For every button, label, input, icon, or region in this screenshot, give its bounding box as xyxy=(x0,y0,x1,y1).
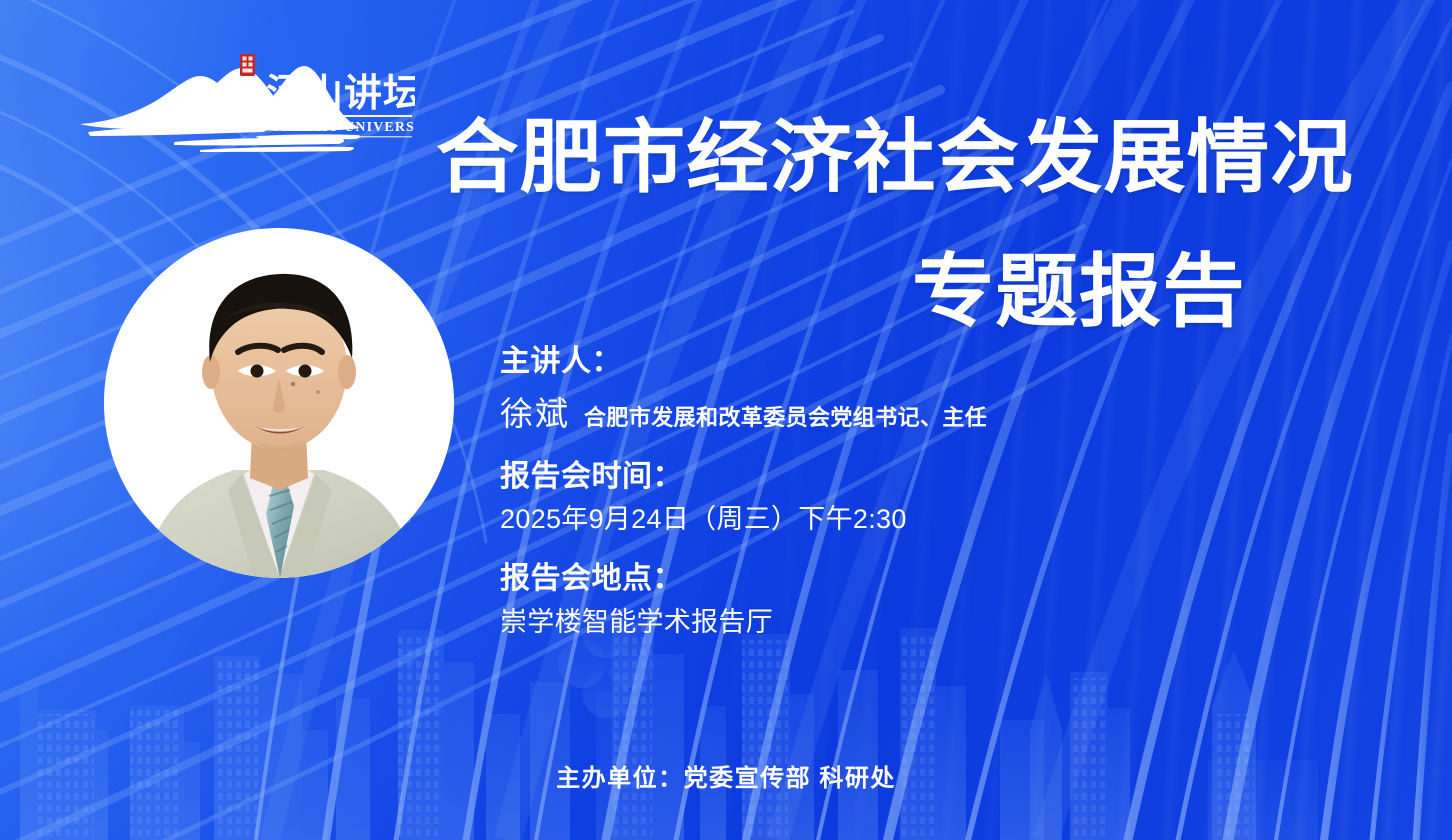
time-label: 报告会时间： xyxy=(500,459,1200,496)
poster-canvas: 汤山讲坛 CHAOHU UNIVERSITY xyxy=(0,0,1452,840)
venue-block: 报告会地点： 崇学楼智能学术报告厅 xyxy=(500,561,1200,639)
venue-value: 崇学楼智能学术报告厅 xyxy=(500,606,1200,640)
footer-organizers: 主办单位：党委宣传部 科研处 xyxy=(0,758,1452,793)
chaohu-mountain-logo: 汤山讲坛 CHAOHU UNIVERSITY xyxy=(70,52,415,152)
headline-line-2: 专题报告 xyxy=(912,252,1246,332)
speaker-portrait xyxy=(104,228,454,578)
speaker-label: 主讲人： xyxy=(500,344,1200,381)
speaker-row: 徐斌 合肥市发展和改革委员会党组书记、主任 xyxy=(500,387,1200,435)
speaker-title: 合肥市发展和改革委员会党组书记、主任 xyxy=(584,400,987,432)
venue-label: 报告会地点： xyxy=(500,561,1200,598)
svg-text:CHAOHU UNIVERSITY: CHAOHU UNIVERSITY xyxy=(270,120,415,135)
event-details: 主讲人： 徐斌 合肥市发展和改革委员会党组书记、主任 报告会时间： 2025年9… xyxy=(500,344,1200,639)
speaker-name: 徐斌 xyxy=(500,387,570,435)
time-block: 报告会时间： 2025年9月24日（周三）下午2:30 xyxy=(500,459,1200,537)
city-skyline-silhouette xyxy=(0,610,1452,840)
organizers-text: 主办单位：党委宣传部 科研处 xyxy=(556,758,896,793)
svg-text:汤山讲坛: 汤山讲坛 xyxy=(266,71,415,115)
red-seal-icon xyxy=(240,54,255,76)
headline-line-1: 合肥市经济社会发展情况 xyxy=(436,118,1354,198)
time-value: 2025年9月24日（周三）下午2:30 xyxy=(500,503,1200,537)
